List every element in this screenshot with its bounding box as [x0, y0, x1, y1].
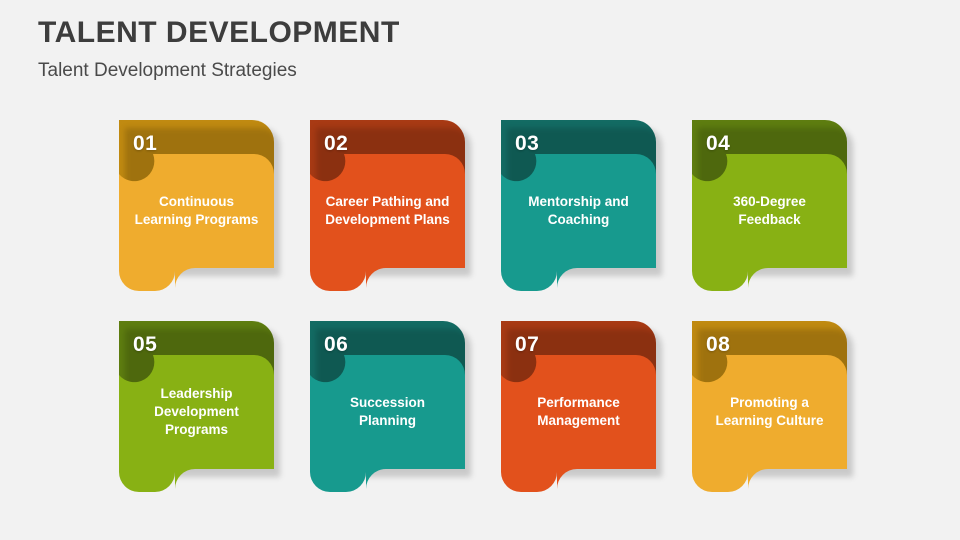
card-number: 06 [324, 334, 348, 355]
strategy-card[interactable]: 07Performance Management [501, 321, 656, 491]
card-number: 05 [133, 334, 157, 355]
strategy-card[interactable]: 02Career Pathing and Development Plans [310, 120, 465, 290]
card-number: 02 [324, 133, 348, 154]
card-grid: 01Continuous Learning Programs02Career P… [119, 120, 879, 522]
card-label: 360-Degree Feedback [702, 193, 837, 229]
card-label: Promoting a Learning Culture [702, 394, 837, 430]
slide-canvas: TALENT DEVELOPMENT Talent Development St… [0, 0, 960, 540]
page-subtitle: Talent Development Strategies [38, 61, 400, 82]
card-number: 08 [706, 334, 730, 355]
card-number: 07 [515, 334, 539, 355]
strategy-card[interactable]: 05Leadership Development Programs [119, 321, 274, 491]
strategy-card[interactable]: 03Mentorship and Coaching [501, 120, 656, 290]
card-number: 01 [133, 133, 157, 154]
card-label: Leadership Development Programs [129, 385, 264, 440]
card-label: Career Pathing and Development Plans [320, 193, 455, 229]
card-number: 04 [706, 133, 730, 154]
strategy-card[interactable]: 04360-Degree Feedback [692, 120, 847, 290]
card-label: Continuous Learning Programs [129, 193, 264, 229]
page-title: TALENT DEVELOPMENT [38, 16, 400, 49]
card-label: Mentorship and Coaching [511, 193, 646, 229]
card-label: Succession Planning [320, 394, 455, 430]
card-number: 03 [515, 133, 539, 154]
strategy-card[interactable]: 08Promoting a Learning Culture [692, 321, 847, 491]
header-block: TALENT DEVELOPMENT Talent Development St… [38, 16, 400, 82]
strategy-card[interactable]: 01Continuous Learning Programs [119, 120, 274, 290]
card-label: Performance Management [511, 394, 646, 430]
strategy-card[interactable]: 06Succession Planning [310, 321, 465, 491]
